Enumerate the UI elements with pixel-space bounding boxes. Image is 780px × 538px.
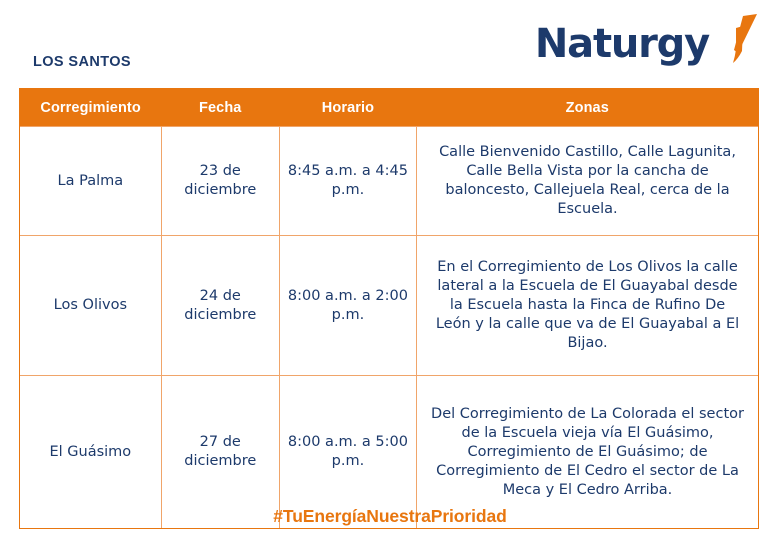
cell-horario: 8:45 a.m. a 4:45 p.m. <box>279 127 416 236</box>
cell-horario: 8:00 a.m. a 2:00 p.m. <box>279 236 416 376</box>
column-header-zonas: Zonas <box>417 89 758 127</box>
column-header-corregimiento: Corregimiento <box>20 89 161 127</box>
page-header: LOS SANTOS Naturgy <box>0 0 780 88</box>
naturgy-flame-icon <box>712 14 758 71</box>
cell-fecha: 24 de diciembre <box>161 236 279 376</box>
naturgy-logo: Naturgy <box>535 14 758 66</box>
column-header-fecha: Fecha <box>161 89 279 127</box>
cell-corregimiento: Los Olivos <box>20 236 161 376</box>
cell-zonas: En el Corregimiento de Los Olivos la cal… <box>417 236 758 376</box>
naturgy-wordmark: Naturgy <box>535 22 709 66</box>
outage-schedule-table: Corregimiento Fecha Horario Zonas La Pal… <box>20 89 758 528</box>
cell-corregimiento: La Palma <box>20 127 161 236</box>
table-body: La Palma 23 de diciembre 8:45 a.m. a 4:4… <box>20 127 758 529</box>
outage-schedule-table-wrapper: Corregimiento Fecha Horario Zonas La Pal… <box>19 88 759 529</box>
table-row: La Palma 23 de diciembre 8:45 a.m. a 4:4… <box>20 127 758 236</box>
cell-zonas: Calle Bienvenido Castillo, Calle Lagunit… <box>417 127 758 236</box>
page-footer: #TuEnergíaNuestraPrioridad <box>0 506 780 527</box>
table-row: Los Olivos 24 de diciembre 8:00 a.m. a 2… <box>20 236 758 376</box>
table-header-row: Corregimiento Fecha Horario Zonas <box>20 89 758 127</box>
page-title: LOS SANTOS <box>33 54 131 70</box>
campaign-hashtag: #TuEnergíaNuestraPrioridad <box>273 506 506 526</box>
cell-fecha: 23 de diciembre <box>161 127 279 236</box>
column-header-horario: Horario <box>279 89 416 127</box>
